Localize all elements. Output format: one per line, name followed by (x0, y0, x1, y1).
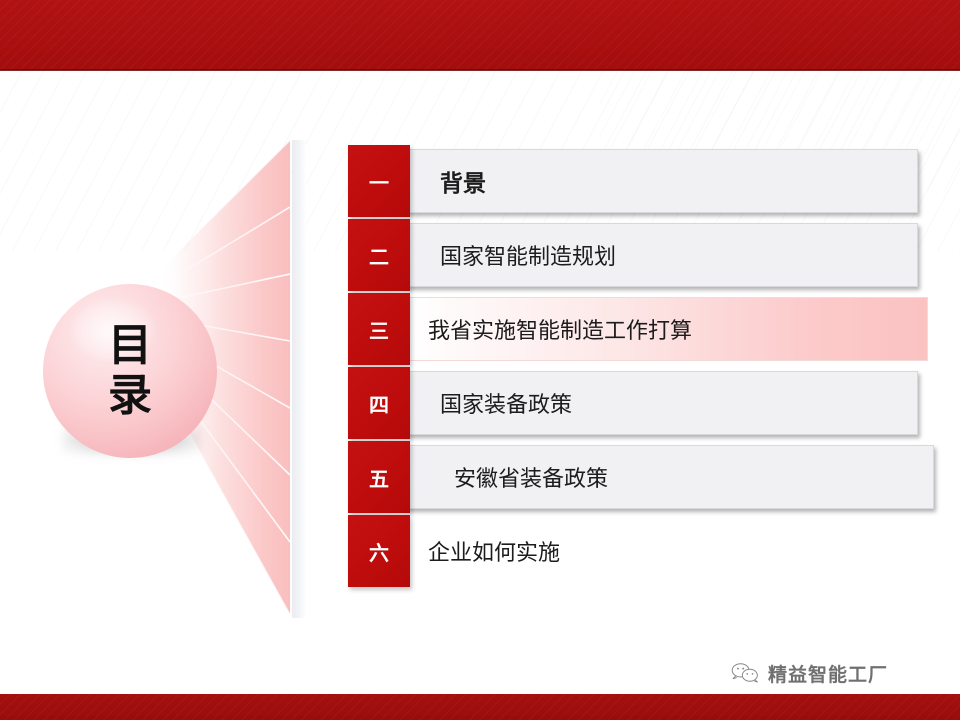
toc-number-box[interactable]: 六 (348, 515, 410, 587)
toc-row-label: 国家装备政策 (440, 367, 572, 439)
toc-row[interactable]: 六企业如何实施 (348, 515, 918, 587)
bottom-red-band (0, 694, 960, 720)
brand-block: 精益智能工厂 (730, 656, 888, 690)
toc-row[interactable]: 四国家装备政策 (348, 367, 918, 439)
top-band-edge (0, 69, 960, 71)
toc-row-label: 我省实施智能制造工作打算 (428, 293, 692, 365)
toc-number-box[interactable]: 五 (348, 441, 410, 513)
brand-name: 精益智能工厂 (768, 660, 888, 687)
toc-row[interactable]: 三我省实施智能制造工作打算 (348, 293, 918, 365)
toc-number-box[interactable]: 四 (348, 367, 410, 439)
contents-sphere: 目 录 (40, 282, 220, 468)
toc-row[interactable]: 二国家智能制造规划 (348, 219, 918, 291)
toc-list: 一背景二国家智能制造规划三我省实施智能制造工作打算四国家装备政策五安徽省装备政策… (348, 145, 918, 590)
toc-row-label: 企业如何实施 (428, 515, 560, 587)
top-red-band (0, 0, 960, 70)
toc-row-label: 背景 (440, 145, 486, 217)
sphere-title-char-2: 录 (108, 372, 152, 420)
toc-row-label: 国家智能制造规划 (440, 219, 616, 291)
sphere-title: 目 录 (40, 282, 220, 460)
toc-number-box[interactable]: 三 (348, 293, 410, 365)
wall-edge-strip (292, 140, 306, 618)
wechat-icon (730, 661, 760, 685)
sphere-title-char-1: 目 (108, 322, 152, 370)
toc-number-box[interactable]: 一 (348, 145, 410, 217)
toc-row[interactable]: 五安徽省装备政策 (348, 441, 918, 513)
toc-number-box[interactable]: 二 (348, 219, 410, 291)
toc-row[interactable]: 一背景 (348, 145, 918, 217)
slide-root: 目 录 一背景二国家智能制造规划三我省实施智能制造工作打算四国家装备政策五安徽省… (0, 0, 960, 720)
toc-row-label: 安徽省装备政策 (454, 441, 608, 513)
